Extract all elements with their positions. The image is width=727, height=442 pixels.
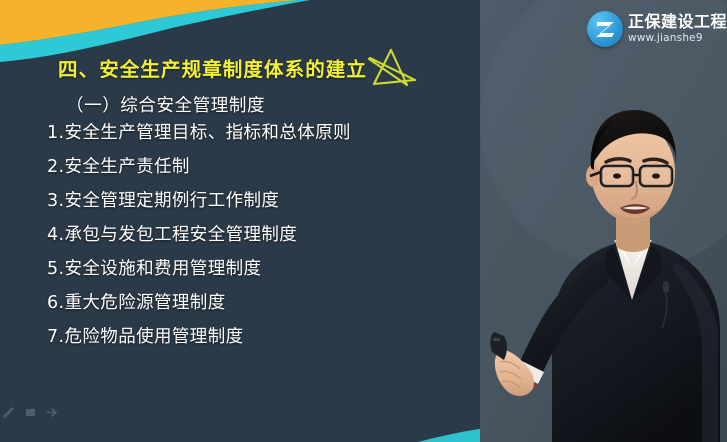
slide-content: 四、安全生产规章制度体系的建立 （一）综合安全管理制度 1.安全生产管理目标、指… bbox=[0, 0, 520, 442]
slide-bullet-list: 1.安全生产管理目标、指标和总体原则 2.安全生产责任制 3.安全管理定期例行工… bbox=[47, 125, 351, 363]
brand-watermark: 正保建设工程 www.jianshe9 bbox=[587, 6, 727, 52]
star-doodle-icon bbox=[360, 44, 422, 94]
brand-name: 正保建设工程 bbox=[628, 14, 727, 31]
slide-subtitle: （一）综合安全管理制度 bbox=[66, 92, 265, 117]
pen-icon[interactable] bbox=[2, 406, 15, 419]
list-item: 5.安全设施和费用管理制度 bbox=[47, 261, 351, 279]
list-item: 3.安全管理定期例行工作制度 bbox=[47, 193, 351, 211]
list-item: 7.危险物品使用管理制度 bbox=[47, 329, 351, 347]
page-title: 四、安全生产规章制度体系的建立 bbox=[58, 53, 367, 82]
list-item: 1.安全生产管理目标、指标和总体原则 bbox=[47, 125, 351, 143]
brand-text-block: 正保建设工程 www.jianshe9 bbox=[628, 14, 727, 44]
annotation-toolbar[interactable] bbox=[0, 406, 59, 419]
rectangle-icon[interactable] bbox=[24, 406, 37, 419]
arrow-icon[interactable] bbox=[46, 406, 59, 419]
video-lecture-frame: 四、安全生产规章制度体系的建立 （一）综合安全管理制度 1.安全生产管理目标、指… bbox=[0, 0, 727, 442]
brand-logo-icon bbox=[587, 11, 623, 47]
list-item: 4.承包与发包工程安全管理制度 bbox=[47, 227, 351, 245]
list-item: 2.安全生产责任制 bbox=[47, 159, 351, 177]
brand-url: www.jianshe9 bbox=[628, 32, 727, 45]
list-item: 6.重大危险源管理制度 bbox=[47, 295, 351, 313]
